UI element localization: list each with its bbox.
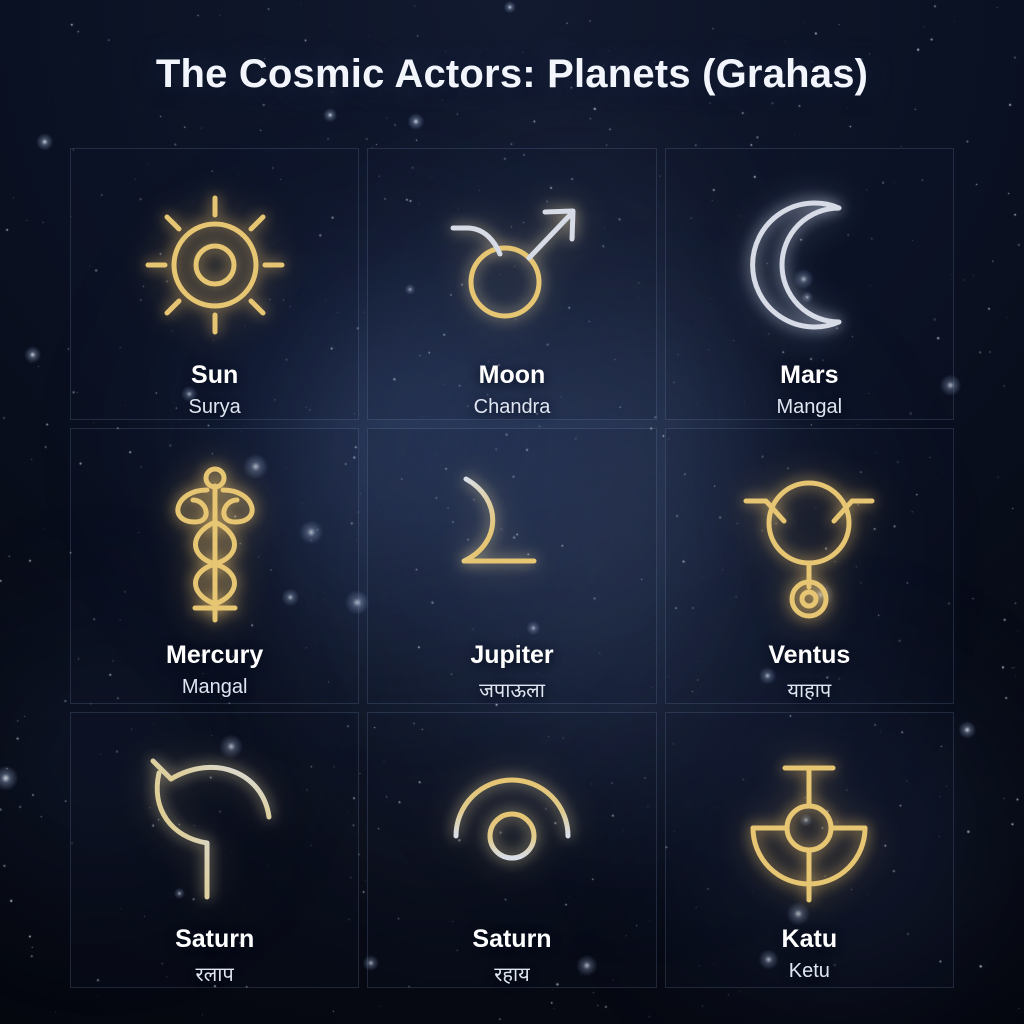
planet-name: Jupiter — [470, 641, 553, 670]
planet-card-mercury[interactable]: Mercury Mangal — [70, 428, 359, 704]
planet-sanskrit-name: रहाय — [494, 960, 530, 987]
planet-card-jupiter[interactable]: Jupiter जपाऊला — [367, 428, 656, 704]
planet-card-saturn-2[interactable]: Saturn रहाय — [367, 712, 656, 988]
planet-sanskrit-name: जपाऊला — [479, 676, 545, 703]
venus-horned-icon — [666, 455, 953, 635]
sun-icon — [71, 175, 358, 355]
planet-card-sun[interactable]: Sun Surya — [70, 148, 359, 420]
rahu-dome-icon — [368, 739, 655, 919]
planet-sanskrit-name: Ketu — [789, 960, 830, 983]
planet-name: Katu — [782, 925, 838, 954]
planet-name: Sun — [191, 361, 238, 390]
jupiter-glyph-icon — [368, 455, 655, 635]
planet-sanskrit-name: Mangal — [182, 676, 248, 699]
page-title: The Cosmic Actors: Planets (Grahas) — [0, 52, 1024, 97]
ketu-bowl-icon — [666, 739, 953, 919]
planet-card-saturn-1[interactable]: Saturn रलाप — [70, 712, 359, 988]
planet-sanskrit-name: Chandra — [474, 396, 551, 419]
mars-arrow-icon — [368, 175, 655, 355]
planet-name: Mercury — [166, 641, 263, 670]
planet-name: Ventus — [768, 641, 850, 670]
planet-name: Saturn — [175, 925, 254, 954]
planet-card-katu[interactable]: Katu Ketu — [665, 712, 954, 988]
planet-sanskrit-name: Surya — [189, 396, 241, 419]
planet-grid: Sun Surya Moon Chandra Mars Mangal — [70, 148, 954, 988]
planet-sanskrit-name: Mangal — [777, 396, 843, 419]
caduceus-icon — [71, 455, 358, 635]
planet-card-mars[interactable]: Mars Mangal — [665, 148, 954, 420]
planet-card-moon[interactable]: Moon Chandra — [367, 148, 656, 420]
planet-sanskrit-name: याहाप — [787, 676, 831, 703]
planet-name: Mars — [780, 361, 838, 390]
planet-name: Saturn — [472, 925, 551, 954]
crescent-moon-icon — [666, 175, 953, 355]
planet-card-ventus[interactable]: Ventus याहाप — [665, 428, 954, 704]
saturn-scythe-icon — [71, 739, 358, 919]
planet-name: Moon — [479, 361, 546, 390]
planet-sanskrit-name: रलाप — [196, 960, 234, 987]
